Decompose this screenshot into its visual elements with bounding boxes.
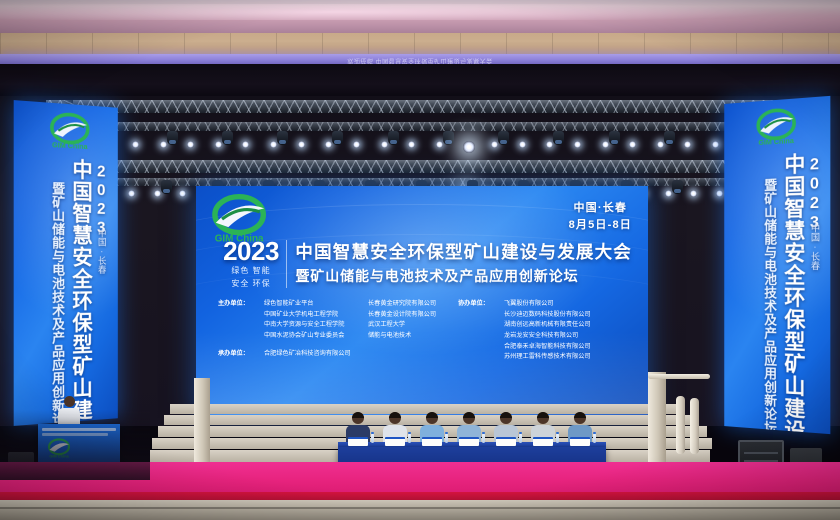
screen-title-row: 2023 绿色 智能 安全 环保 中国智慧安全环保型矿山建设与发展大会 暨矿山储… [220, 238, 632, 290]
water-bottle [408, 434, 411, 443]
moving-head-fixture [664, 131, 675, 145]
water-bottle [445, 434, 448, 443]
gim-logo-right-banner: GIM China [755, 106, 798, 149]
truss-upper-2 [46, 122, 798, 131]
host-col2-item-0: 长春黄金研究院有限公司 [368, 299, 458, 310]
panelist-hair [500, 412, 512, 418]
coorg-item-5: 苏州理工雷科传感技术有限公司 [504, 352, 636, 363]
spotlight [215, 141, 222, 148]
table-nameplate [348, 437, 368, 446]
coorg-item-2: 湖南创远高新机械有限责任公司 [504, 320, 636, 331]
coorg-row-3: 湖南创远高新机械有限责任公司 [458, 320, 636, 331]
moving-head-light-2 [196, 432, 211, 454]
truss-top [46, 100, 798, 113]
left-banner-sub-title: 暨矿山储能与电池技术及产品应用创新论坛 [51, 181, 64, 426]
spotlight [712, 141, 719, 148]
table-nameplate [533, 437, 553, 446]
spotlight [132, 141, 139, 148]
organizers-block: 主办单位： 绿色智能矿业平台 长春黄金研究院有限公司 中国矿业大学机电工程学院 … [218, 299, 636, 363]
panelist-hair [574, 412, 586, 418]
spotlight [381, 141, 388, 148]
host-col2-item-1: 长春黄金设计院有限公司 [368, 310, 458, 321]
undertaker-label: 承办单位： [218, 349, 264, 360]
bottle-cap [408, 432, 411, 434]
moving-head-fixture [277, 131, 288, 145]
ceiling-stone-band [0, 33, 840, 54]
baluster-right-2 [690, 398, 699, 454]
bottle-cap [445, 432, 448, 434]
host-col1-item-2: 中南大学资源与安全工程学院 [264, 320, 368, 331]
moving-head-light-4 [634, 426, 649, 448]
left-banner-city: 中国·长春 [97, 228, 106, 273]
coorg-item-0: 飞翼股份有限公司 [504, 299, 636, 310]
moving-head-fixture [222, 131, 233, 145]
spotlight [665, 190, 672, 197]
moving-head-fixture [161, 180, 172, 194]
coorg-label: 协办单位： [458, 299, 504, 310]
water-bottle [519, 434, 522, 443]
left-vertical-banner: GIM China 2023 中国·长春 中国智慧安全环保型矿山建设与发展大会 … [14, 100, 118, 426]
forum-subtitle: 暨矿山储能与电池技术及产品应用创新论坛 [295, 267, 632, 285]
moving-head-fixture [388, 131, 399, 145]
coorg-item-3: 龙岩龙安安全科技有限公司 [504, 331, 636, 342]
coorg-item-1: 长沙迪迈数码科技股份有限公司 [504, 310, 636, 321]
table-nameplate [496, 437, 516, 446]
moving-head-fixture [332, 131, 343, 145]
bottle-cap [371, 432, 374, 434]
right-banner-main-title: 中国智慧安全环保型矿山建设与发展大会 [782, 153, 804, 435]
baluster-right-1 [676, 396, 685, 454]
coorg-row-6: 苏州理工雷科传感技术有限公司 [458, 352, 636, 363]
moving-head-light-3 [300, 424, 315, 446]
bottle-cap [519, 432, 522, 434]
host-organizers-column: 主办单位： 绿色智能矿业平台 长春黄金研究院有限公司 中国矿业大学机电工程学院 … [218, 299, 458, 363]
main-led-screen: GIM China 中国·长春 8月5日-8日 2023 绿色 智能 安全 环保… [196, 186, 648, 418]
spotlight [128, 190, 135, 197]
event-dates: 8月5日-8日 [569, 217, 632, 234]
water-bottle [593, 434, 596, 443]
upper-dark-area [0, 64, 840, 98]
event-location: 中国·长春 [569, 200, 632, 217]
host-row-4: 中国水泥协会矿山专业委员会 储能与电池技术 [218, 331, 458, 342]
table-nameplate [570, 437, 590, 446]
moving-head-fixture [609, 131, 620, 145]
host-col1-item-3: 中国水泥协会矿山专业委员会 [264, 331, 368, 342]
spotlight [657, 141, 664, 148]
coorganizers-column: 协办单位： 飞翼股份有限公司 长沙迪迈数码科技股份有限公司 湖南创远高新机械有限… [458, 299, 636, 363]
panelist-hair [389, 412, 401, 418]
moving-head-light-1 [176, 424, 191, 446]
panelist-hair [463, 412, 475, 418]
host-row-3: 中南大学资源与安全工程学院 武汉工程大学 [218, 320, 458, 331]
gim-logo-left-banner: GIM China [48, 111, 91, 154]
moving-head-fixture [443, 131, 454, 145]
year-sub-line-2: 安全 环保 [220, 279, 282, 290]
handrail-right [648, 374, 710, 379]
moving-head-fixture [553, 131, 564, 145]
title-block: 中国智慧安全环保型矿山建设与发展大会 暨矿山储能与电池技术及产品应用创新论坛 [295, 242, 632, 285]
host-col2-item-3: 储能与电池技术 [368, 331, 458, 342]
ceiling [0, 0, 840, 34]
host-row-1: 主办单位： 绿色智能矿业平台 长春黄金研究院有限公司 [218, 299, 458, 310]
coorg-row-4: 龙岩龙安安全科技有限公司 [458, 331, 636, 342]
spotlight [574, 141, 581, 148]
left-banner-main-title: 中国智慧安全环保型矿山建设与发展大会 [70, 158, 91, 426]
panelist-hair [426, 412, 438, 418]
year-block: 2023 绿色 智能 安全 环保 [220, 238, 282, 290]
coorg-row-5: 合肥泰禾卓海智能科技有限公司 [458, 342, 636, 353]
year-sub-line-1: 绿色 智能 [220, 266, 282, 277]
spotlight [154, 190, 161, 197]
bottle-cap [593, 432, 596, 434]
foreground-floor [0, 500, 840, 520]
right-vertical-banner: GIM China 2023 中国·长春 中国智慧安全环保型矿山建设与发展大会 … [724, 96, 830, 434]
year-number: 2023 [220, 238, 282, 264]
water-bottle [556, 434, 559, 443]
event-date-block: 中国·长春 8月5日-8日 [569, 200, 632, 234]
host-col1-item-0: 绿色智能矿业平台 [264, 299, 368, 310]
coorg-row-1: 协办单位： 飞翼股份有限公司 [458, 299, 636, 310]
spotlight [491, 141, 498, 148]
moving-head-fixture [672, 180, 683, 194]
spotlight [519, 141, 526, 148]
table-nameplate [459, 437, 479, 446]
host-label: 主办单位： [218, 299, 264, 310]
water-bottle [482, 434, 485, 443]
coorg-item-4: 合肥泰禾卓海智能科技有限公司 [504, 342, 636, 353]
spotlight [353, 141, 360, 148]
panelist-hair [352, 412, 364, 418]
spotlight [298, 141, 305, 148]
host-row-2: 中国矿业大学机电工程学院 长春黄金设计院有限公司 [218, 310, 458, 321]
table-nameplate [385, 437, 405, 446]
right-banner-sub-title: 暨矿山储能与电池技术及产品应用创新论坛 [763, 178, 776, 434]
led-ticker-text: 欢迎莅临 中国智慧安全环保型矿山建设与发展大会 [0, 55, 840, 64]
bottle-cap [482, 432, 485, 434]
bottle-cap [556, 432, 559, 434]
moving-head-fixture [167, 131, 178, 145]
audience-foreground-left [0, 410, 150, 480]
moving-head-light-5 [656, 442, 671, 464]
spotlight [436, 141, 443, 148]
undertaker-row: 承办单位： 合肥绿色矿冶科技咨询有限公司 [218, 349, 458, 360]
right-banner-city: 中国·长春 [810, 223, 820, 270]
spotlight [716, 190, 723, 197]
spotlight [160, 141, 167, 148]
truss-mid [46, 160, 798, 173]
spotlight [602, 141, 609, 148]
host-col1-item-1: 中国矿业大学机电工程学院 [264, 310, 368, 321]
coorg-row-2: 长沙迪迈数码科技股份有限公司 [458, 310, 636, 321]
moving-head-fixture [498, 131, 509, 145]
conference-title: 中国智慧安全环保型矿山建设与发展大会 [295, 242, 632, 264]
host-col2-item-2: 武汉工程大学 [368, 320, 458, 331]
left-banner-year: 2023 [93, 163, 109, 238]
right-banner-year: 2023 [805, 156, 822, 234]
svg-text:GIM China: GIM China [758, 137, 795, 147]
water-bottle [371, 434, 374, 443]
conference-hall-photo: 欢迎莅临 中国智慧安全环保型矿山建设与发展大会 GIM China 2023 中… [0, 0, 840, 520]
table-nameplate [422, 437, 442, 446]
svg-text:GIM China: GIM China [52, 140, 88, 151]
undertaker-value: 合肥绿色矿冶科技咨询有限公司 [264, 349, 458, 360]
panelist-hair [537, 412, 549, 418]
